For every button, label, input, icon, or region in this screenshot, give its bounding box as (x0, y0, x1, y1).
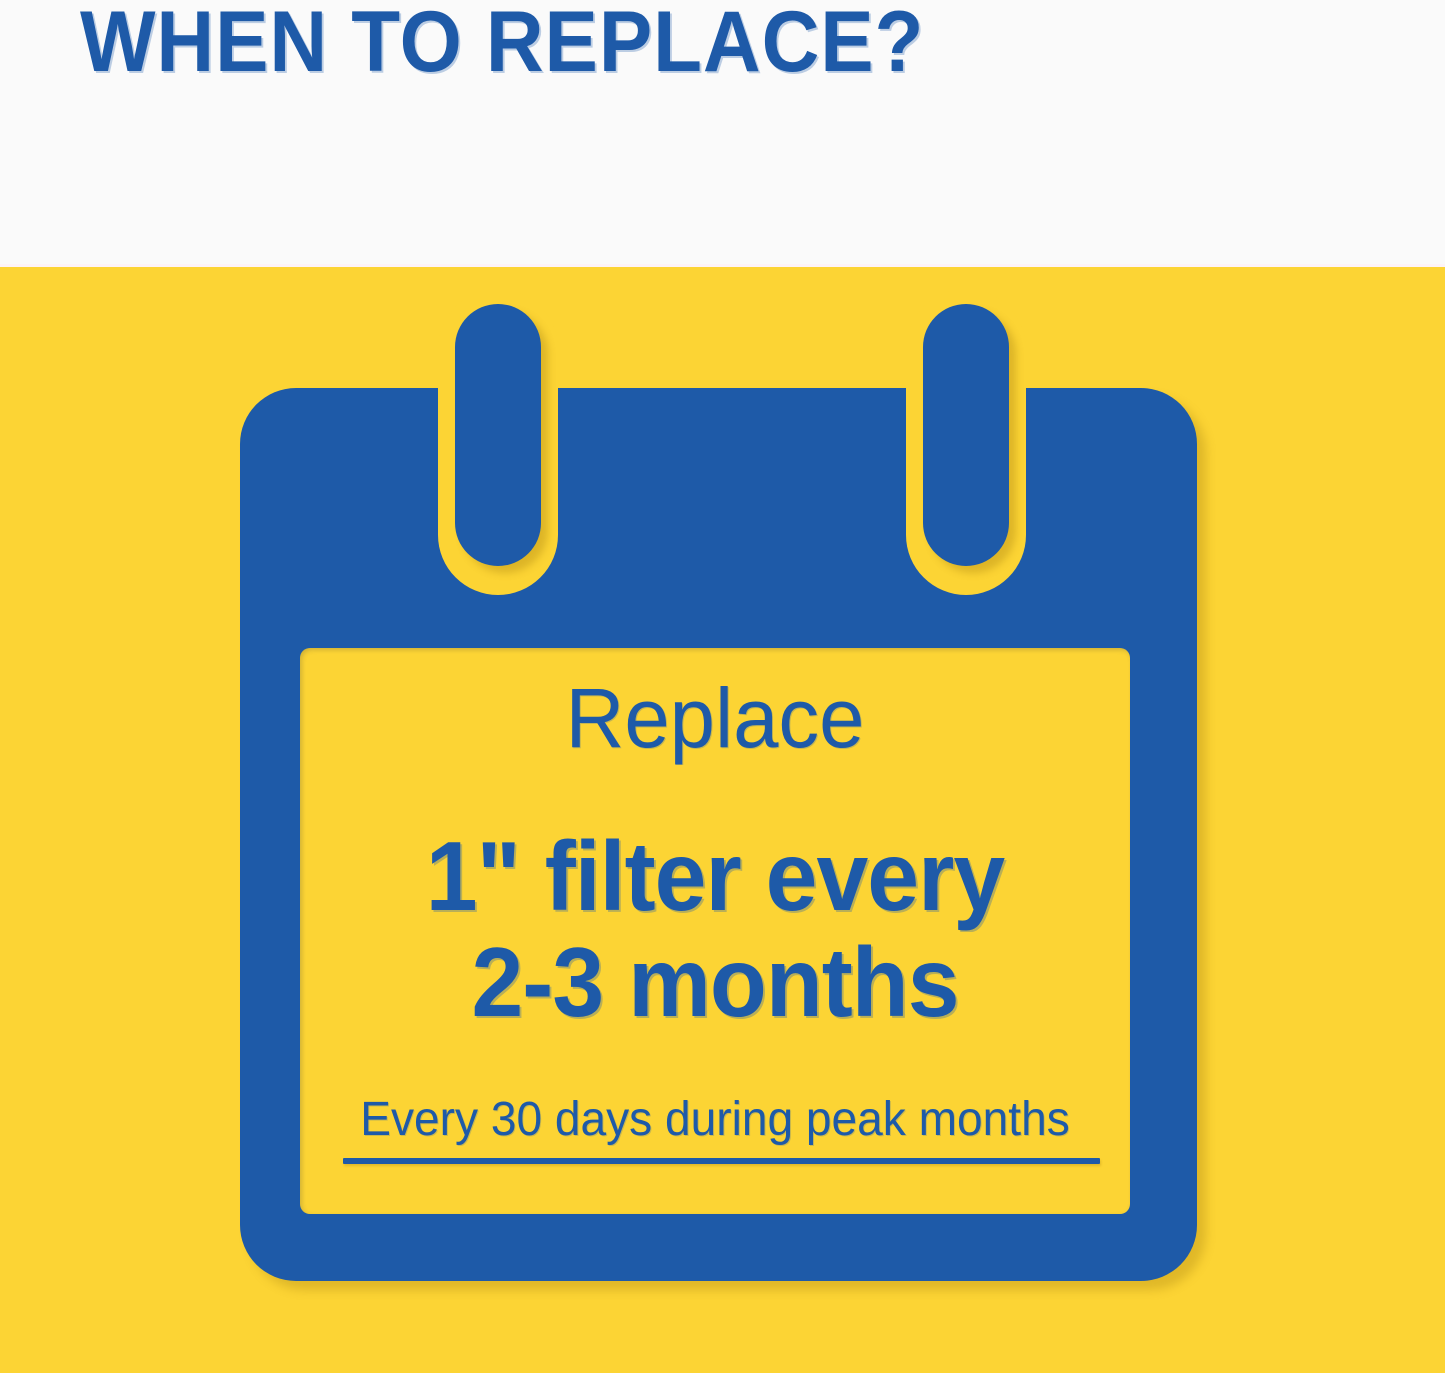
replace-eyebrow: Replace (312, 672, 1117, 764)
yellow-stage: Replace 1" filter every 2-3 months Every… (0, 267, 1445, 1373)
headline-line-1: 1" filter every (321, 824, 1110, 928)
calendar-icon: Replace 1" filter every 2-3 months Every… (0, 267, 1445, 1373)
infographic-page: WHEN TO REPLACE? Replace 1" filter every… (0, 0, 1445, 1373)
page-title: WHEN TO REPLACE? (80, 0, 924, 90)
calendar-ring-left-pin (455, 304, 541, 566)
calendar-text-block: Replace 1" filter every 2-3 months Every… (300, 648, 1130, 1214)
headline-line-2: 2-3 months (321, 930, 1110, 1034)
calendar-ring-right-pin (923, 304, 1009, 566)
calendar-ring-left (438, 289, 558, 595)
calendar-ring-right (906, 289, 1026, 595)
header-band: WHEN TO REPLACE? (0, 0, 1445, 267)
subtext-underline (343, 1158, 1100, 1164)
peak-months-subtext: Every 30 days during peak months (317, 1092, 1114, 1148)
